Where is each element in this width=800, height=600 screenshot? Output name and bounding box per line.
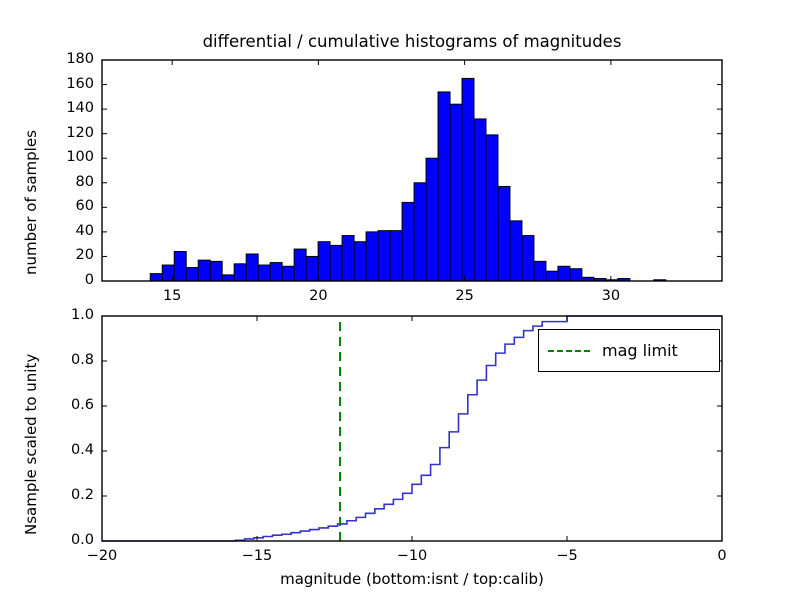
histogram-bar <box>486 135 498 281</box>
y-tick-label: 20 <box>14 247 94 263</box>
legend-label-mag-limit: mag limit <box>602 341 678 360</box>
top-axes-group <box>102 60 722 281</box>
histogram-bar <box>222 275 234 281</box>
histogram-bar <box>558 266 570 281</box>
y-tick-label: 100 <box>14 149 94 165</box>
histogram-bar <box>294 249 306 281</box>
x-tick-label: 15 <box>132 288 212 304</box>
histogram-bar <box>366 232 378 281</box>
histogram-bar <box>414 183 426 281</box>
histogram-bar <box>510 221 522 281</box>
histogram-bar <box>282 266 294 281</box>
y-tick-label: 120 <box>14 125 94 141</box>
x-tick-label: −15 <box>217 548 297 564</box>
histogram-bar <box>246 254 258 281</box>
histogram-bar <box>378 231 390 281</box>
bottom-axis-x-label: magnitude (bottom:isnt / top:calib) <box>102 570 722 588</box>
histogram-bar <box>354 242 366 281</box>
histogram-bar <box>330 245 342 281</box>
histogram-bar <box>438 92 450 281</box>
differential-histogram-plot <box>0 0 800 600</box>
histogram-bar <box>306 256 318 281</box>
histogram-bar <box>522 236 534 281</box>
histogram-bar <box>570 269 582 281</box>
histogram-bar <box>546 271 558 281</box>
histogram-bar <box>426 158 438 281</box>
histogram-bar <box>498 186 510 281</box>
y-tick-label: 80 <box>14 174 94 190</box>
bottom-axis-y-label: Nsample scaled to unity <box>22 354 40 535</box>
histogram-bar <box>270 263 282 281</box>
y-tick-label: 160 <box>14 76 94 92</box>
x-tick-label: 0 <box>682 548 762 564</box>
histogram-bar <box>390 231 402 281</box>
histogram-bar <box>234 264 246 281</box>
histogram-bar <box>186 267 198 281</box>
y-tick-label: 40 <box>14 223 94 239</box>
x-tick-label: −5 <box>527 548 607 564</box>
histogram-bar <box>402 202 414 281</box>
histogram-bar <box>534 261 546 281</box>
mag-limit-line-swatch-icon <box>548 350 590 352</box>
histogram-bar <box>474 119 486 281</box>
y-tick-label: 140 <box>14 100 94 116</box>
x-tick-label: 25 <box>425 288 505 304</box>
histogram-bar <box>258 265 270 281</box>
y-tick-label: 0 <box>14 272 94 288</box>
x-tick-label: −10 <box>372 548 452 564</box>
x-tick-label: −20 <box>62 548 142 564</box>
x-tick-label: 20 <box>278 288 358 304</box>
y-tick-label: 1.0 <box>14 307 94 323</box>
histogram-bar <box>318 242 330 281</box>
x-tick-label: 30 <box>571 288 651 304</box>
histogram-bar <box>450 104 462 281</box>
histogram-bar <box>342 236 354 281</box>
figure-canvas: differential / cumulative histograms of … <box>0 0 800 600</box>
y-tick-label: 180 <box>14 51 94 67</box>
legend[interactable]: mag limit <box>538 329 720 372</box>
histogram-bar <box>462 78 474 281</box>
histogram-bar <box>198 260 210 281</box>
histogram-bar <box>210 261 222 281</box>
histogram-bar <box>150 274 162 281</box>
y-tick-label: 60 <box>14 198 94 214</box>
histogram-bar <box>174 252 186 281</box>
